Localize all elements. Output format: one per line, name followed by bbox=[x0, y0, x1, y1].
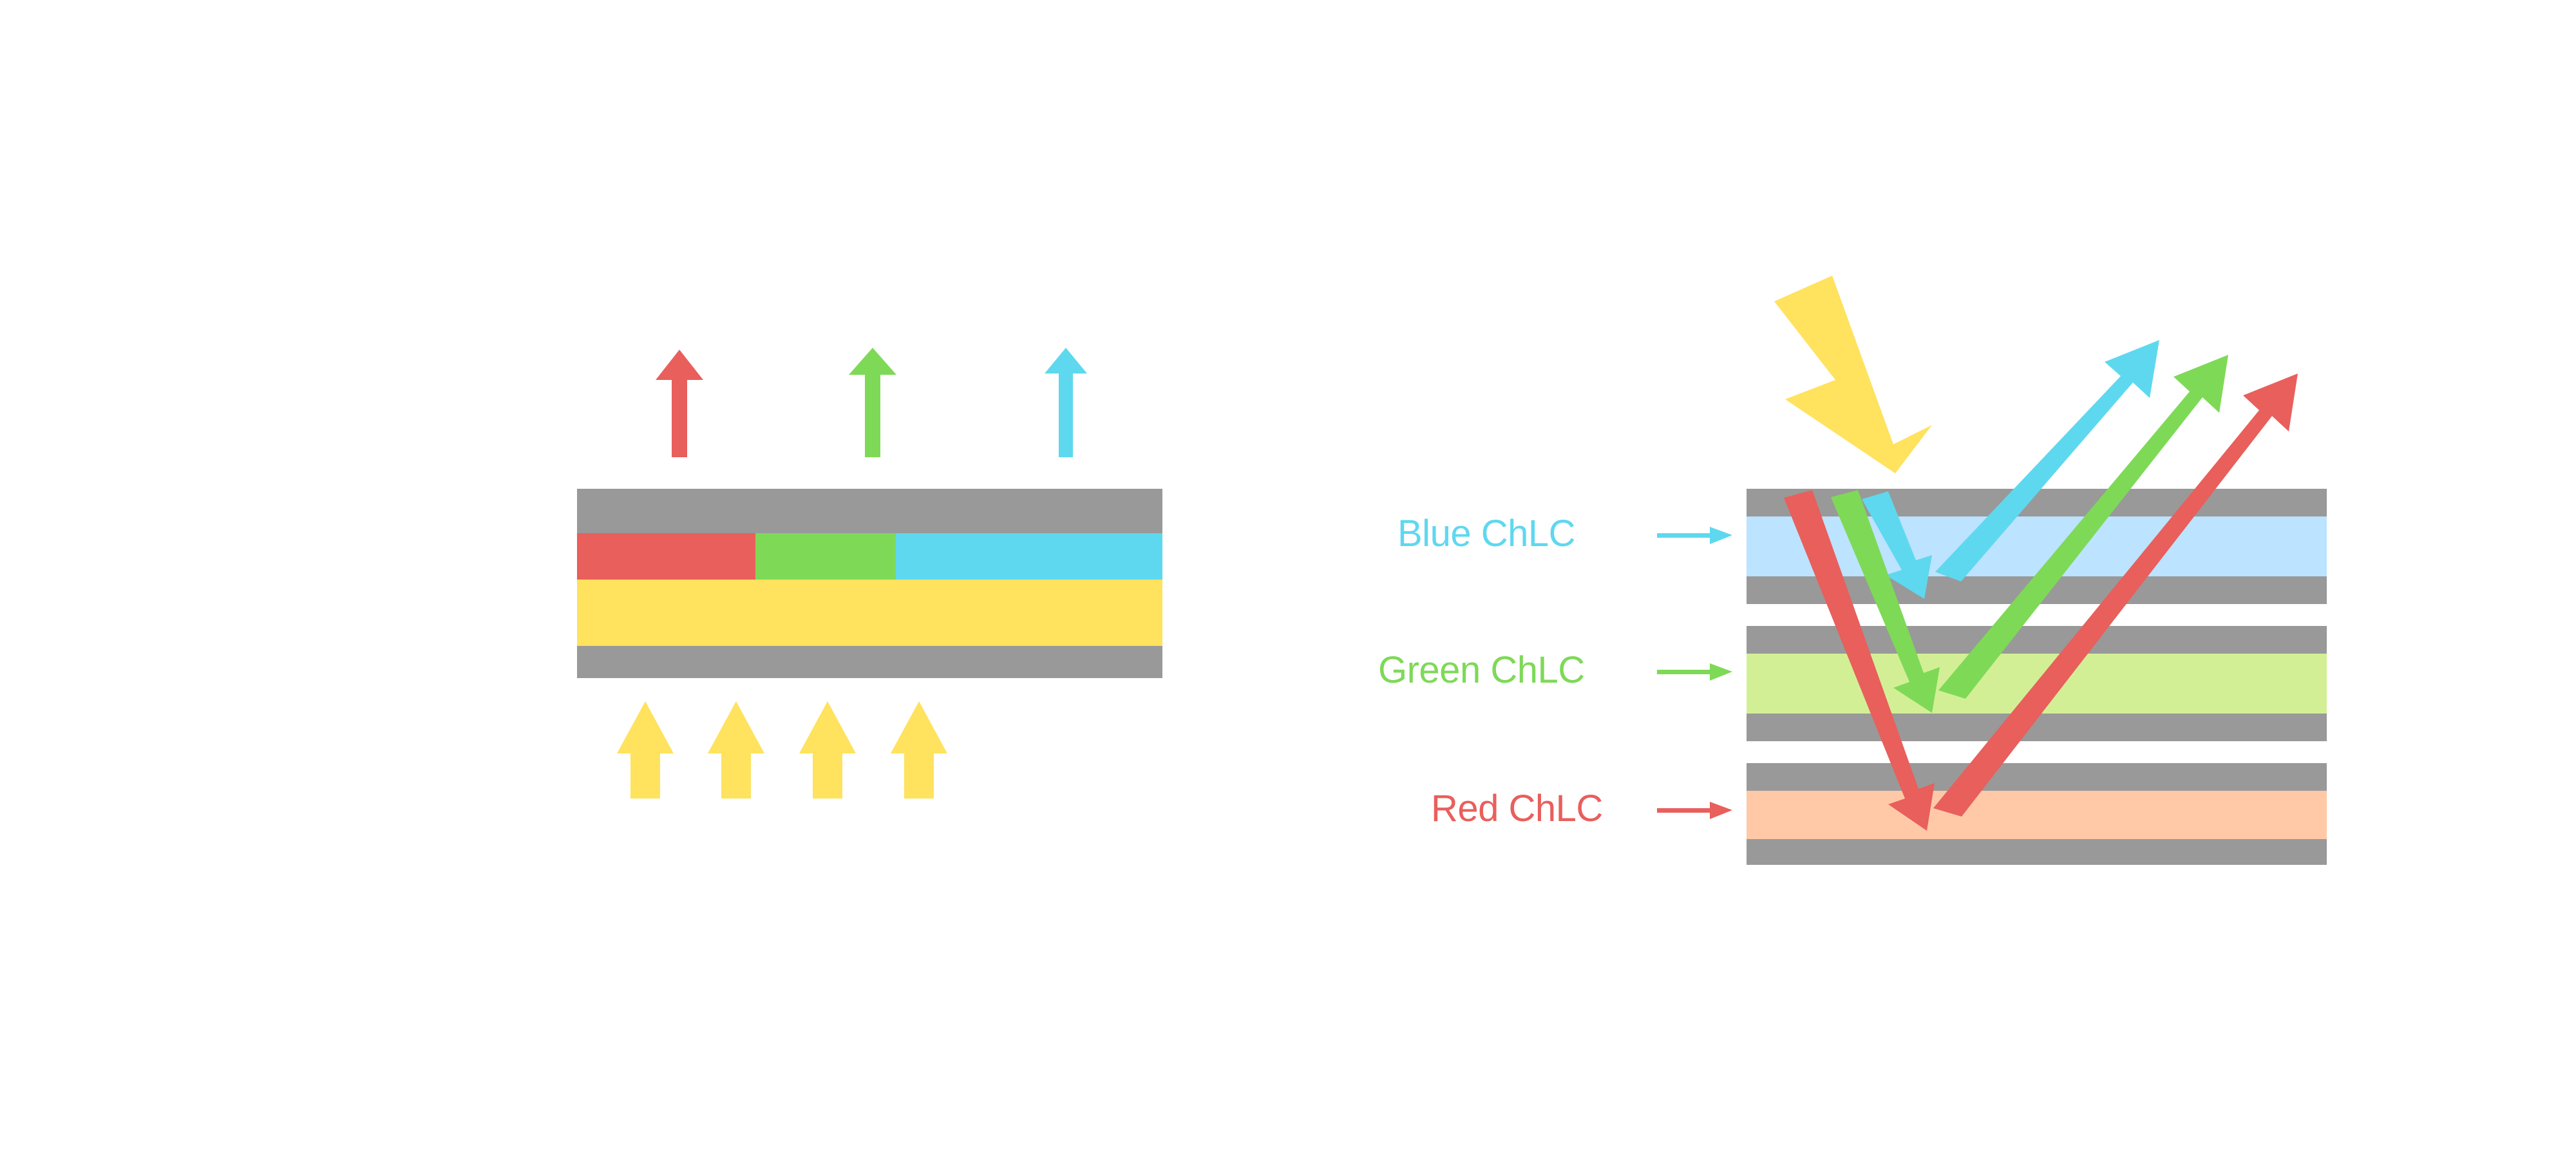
green-label-arrow-icon bbox=[1657, 663, 1732, 681]
yellow-backlight-layer bbox=[577, 580, 1162, 646]
red-label-arrow-icon bbox=[1657, 802, 1732, 819]
backlight-arrow bbox=[891, 701, 947, 799]
figure-canvas: Blue ChLC Green ChLC Red ChLC bbox=[0, 0, 2576, 1154]
top-gray-layer bbox=[577, 489, 1162, 533]
blue-chlc-label-text: Blue ChLC bbox=[1397, 513, 1575, 554]
blue-filter-segment bbox=[896, 533, 1162, 580]
left-layer-stack bbox=[577, 489, 1162, 678]
green-chlc-label: Green ChLC bbox=[1378, 649, 1732, 691]
right-panel-labels: Blue ChLC Green ChLC Red ChLC bbox=[1378, 513, 1732, 829]
backlight-arrow bbox=[799, 701, 856, 799]
red-chlc-label-text: Red ChLC bbox=[1431, 788, 1603, 829]
red-chlc-cell bbox=[1747, 763, 2327, 865]
red-filter-segment bbox=[577, 533, 755, 580]
backlight-arrow bbox=[708, 701, 764, 799]
blue-label-arrow-icon bbox=[1657, 527, 1732, 544]
blue-emitted-arrow bbox=[1045, 348, 1087, 457]
green-chlc-label-text: Green ChLC bbox=[1378, 649, 1585, 691]
left-panel bbox=[577, 348, 1162, 799]
bottom-gray-layer bbox=[577, 646, 1162, 678]
red-cell-top-electrode bbox=[1747, 763, 2327, 791]
left-emitted-arrows bbox=[656, 348, 1087, 457]
backlight-arrows bbox=[617, 701, 947, 799]
green-cell-top-electrode bbox=[1747, 626, 2327, 654]
red-emitted-arrow bbox=[656, 350, 703, 457]
backlight-arrow bbox=[617, 701, 674, 799]
red-cell-bottom-electrode bbox=[1747, 839, 2327, 865]
blue-chlc-label: Blue ChLC bbox=[1397, 513, 1732, 554]
green-filter-segment bbox=[755, 533, 896, 580]
red-chlc-layer bbox=[1747, 791, 2327, 839]
red-chlc-label: Red ChLC bbox=[1431, 788, 1732, 829]
right-panel: Blue ChLC Green ChLC Red ChLC bbox=[1378, 276, 2327, 865]
green-emitted-arrow bbox=[849, 348, 896, 457]
incident-light-arrow bbox=[1774, 276, 1932, 473]
diagram-svg: Blue ChLC Green ChLC Red ChLC bbox=[0, 0, 2576, 1154]
